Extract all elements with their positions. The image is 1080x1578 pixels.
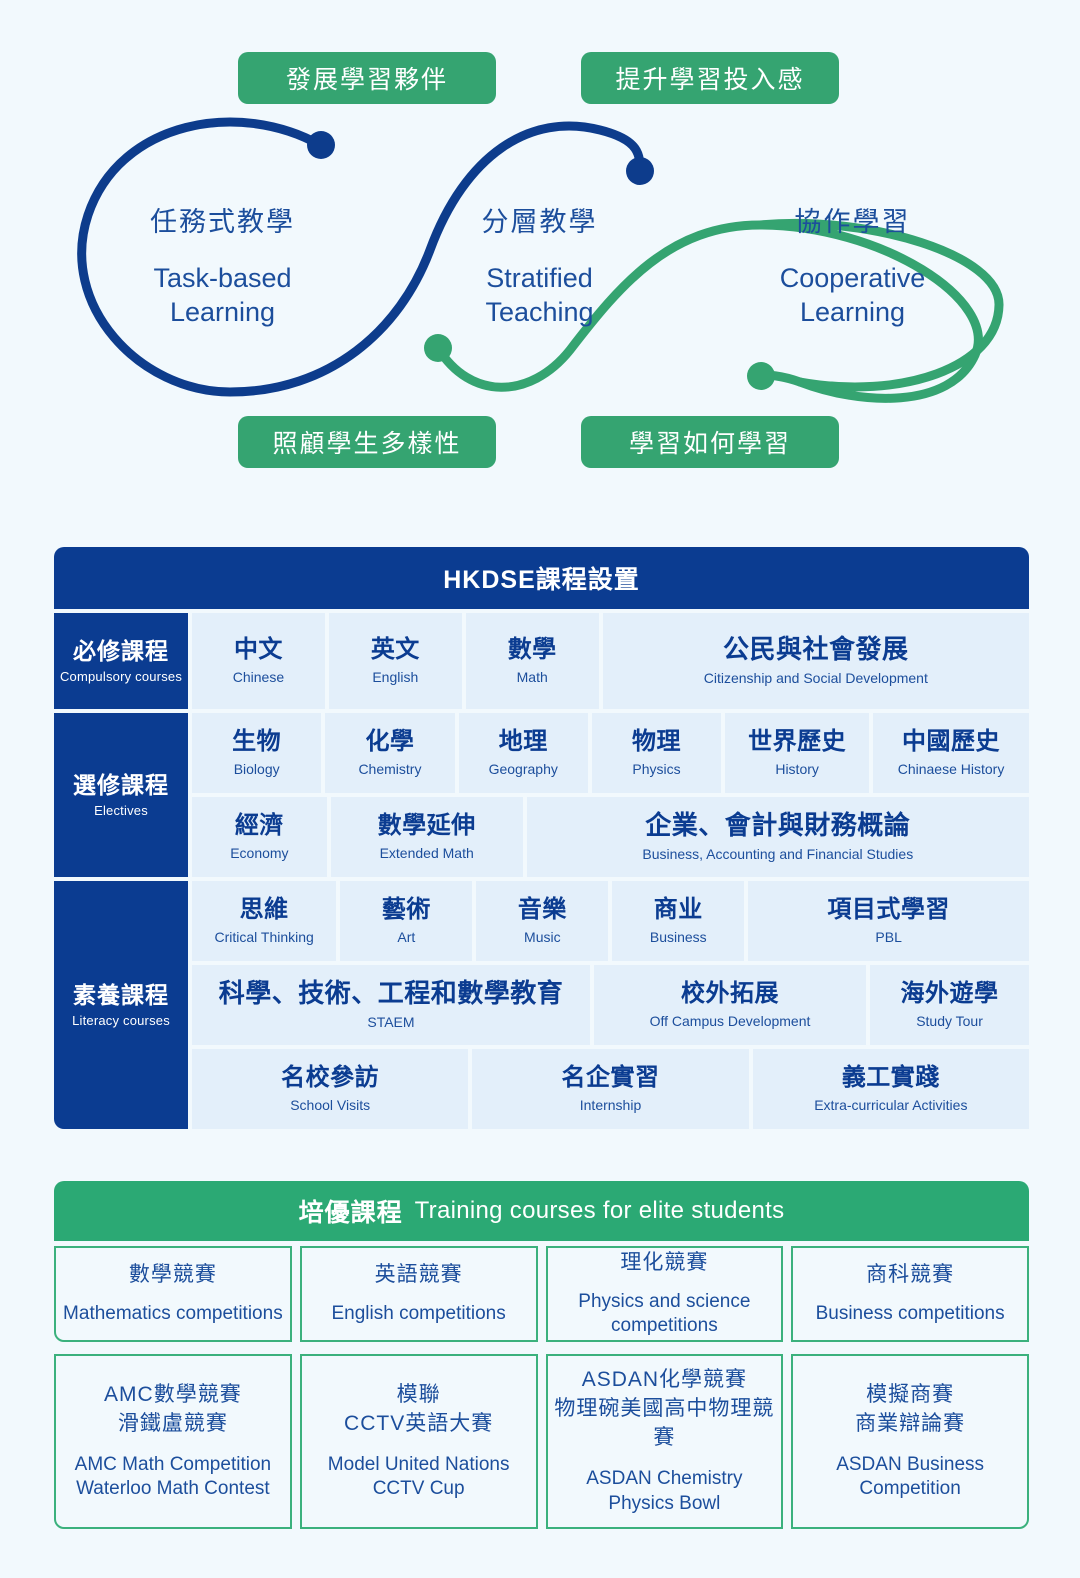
dse-subject-cell[interactable]: 商业Business — [612, 881, 744, 961]
subject-cn: 化學 — [365, 728, 414, 756]
pedagogy-infographic: 發展學習夥伴 提升學習投入感 照顧學生多樣性 學習如何學習 任務式教學 Task… — [0, 0, 1080, 510]
dse-subject-cell[interactable]: 科學、技術、工程和數學教育STAEM — [192, 965, 590, 1045]
subject-cn: 企業、會計與財務概論 — [645, 811, 910, 841]
dse-subject-cell[interactable]: 世界歷史History — [725, 713, 869, 793]
subject-en: Geography — [489, 761, 558, 778]
subject-cn: 名校參訪 — [281, 1064, 379, 1092]
subject-cn: 商业 — [654, 896, 703, 924]
dse-rows: 思維Critical Thinking藝術Art音樂Music商业Busines… — [192, 881, 1029, 1129]
dse-group-label: 必修課程Compulsory courses — [54, 613, 188, 709]
subject-en: Study Tour — [916, 1013, 983, 1030]
subject-en: STAEM — [367, 1014, 414, 1031]
subject-cn: 項目式學習 — [827, 896, 950, 924]
pill-learning-how-to-learn[interactable]: 學習如何學習 — [581, 416, 839, 468]
node-label-cn: 協作學習 — [725, 205, 980, 239]
subject-en: Chinese — [233, 669, 284, 686]
subject-cn: 世界歷史 — [748, 728, 846, 756]
dse-group-label-en: Electives — [94, 803, 148, 818]
dse-subject-cell[interactable]: 名企實習Internship — [472, 1049, 748, 1129]
elite-competition-row: AMC數學競賽滑鐵盧競賽AMC Math CompetitionWaterloo… — [54, 1354, 1029, 1529]
subject-en: Math — [517, 669, 548, 686]
elite-category-card[interactable]: 英語競賽English competitions — [300, 1246, 538, 1342]
dse-group-label-cn: 必修課程 — [73, 638, 169, 664]
dse-subject-cell[interactable]: 中國歷史Chinaese History — [873, 713, 1029, 793]
elite-category-card[interactable]: 數學競賽Mathematics competitions — [54, 1246, 292, 1342]
node-stratified-teaching: 分層教學 Stratified Teaching — [412, 205, 667, 329]
card-title-en: Physics and sciencecompetitions — [578, 1290, 750, 1339]
dse-rows: 生物Biology化學Chemistry地理Geography物理Physics… — [192, 713, 1029, 877]
dse-row: 名校參訪School Visits名企實習Internship義工實踐Extra… — [192, 1049, 1029, 1129]
subject-cn: 音樂 — [518, 896, 567, 924]
dse-group: 素養課程Literacy courses思維Critical Thinking藝… — [54, 881, 1029, 1129]
subject-en: Chinaese History — [898, 761, 1005, 778]
subject-cn: 中文 — [234, 636, 283, 664]
pill-cater-for-diversity[interactable]: 照顧學生多樣性 — [238, 416, 496, 468]
card-title-cn: 英語競賽 — [375, 1261, 463, 1290]
card-title-en: ASDAN ChemistryPhysics Bowl — [586, 1467, 742, 1516]
dse-subject-cell[interactable]: 音樂Music — [476, 881, 608, 961]
subject-cn: 義工實踐 — [842, 1064, 940, 1092]
dse-row: 思維Critical Thinking藝術Art音樂Music商业Busines… — [192, 881, 1029, 961]
subject-en: School Visits — [290, 1097, 370, 1114]
subject-en: Music — [524, 929, 561, 946]
node-label-en-line1: Task-based — [95, 261, 350, 295]
subject-en: Off Campus Development — [650, 1013, 811, 1030]
dse-group-label-cn: 素養課程 — [73, 982, 169, 1008]
blue-endpoint-dot-2 — [626, 157, 654, 185]
subject-en: Art — [397, 929, 415, 946]
subject-en: Business, Accounting and Financial Studi… — [642, 846, 913, 863]
subject-cn: 思維 — [240, 896, 289, 924]
node-label-en-line2: Learning — [725, 295, 980, 329]
elite-title-en: Training courses for elite students — [415, 1197, 785, 1225]
subject-cn: 科學、技術、工程和數學教育 — [219, 979, 564, 1009]
elite-competition-card[interactable]: 模擬商賽商業辯論賽ASDAN BusinessCompetition — [791, 1354, 1029, 1529]
subject-en: Physics — [632, 761, 680, 778]
card-title-en: AMC Math CompetitionWaterloo Math Contes… — [75, 1453, 271, 1502]
subject-cn: 地理 — [499, 728, 548, 756]
subject-en: Internship — [580, 1097, 641, 1114]
card-title-en: English competitions — [331, 1302, 505, 1327]
subject-en: Critical Thinking — [215, 929, 314, 946]
card-title-cn: 模擬商賽商業辯論賽 — [855, 1381, 965, 1439]
card-title-cn: 商科競賽 — [866, 1261, 954, 1290]
dse-subject-cell[interactable]: 數學延伸Extended Math — [331, 797, 523, 877]
node-label-en-line1: Cooperative — [725, 261, 980, 295]
subject-en: English — [372, 669, 418, 686]
subject-en: Extended Math — [380, 845, 474, 862]
subject-en: Chemistry — [358, 761, 421, 778]
subject-cn: 藝術 — [382, 896, 431, 924]
node-label-en-line1: Stratified — [412, 261, 667, 295]
card-title-en: ASDAN BusinessCompetition — [836, 1453, 984, 1502]
elite-title-bar: 培優課程 Training courses for elite students — [54, 1181, 1029, 1241]
subject-cn: 中國歷史 — [902, 728, 1000, 756]
dse-subject-cell[interactable]: 海外遊學Study Tour — [870, 965, 1029, 1045]
elite-competition-card[interactable]: AMC數學競賽滑鐵盧競賽AMC Math CompetitionWaterloo… — [54, 1354, 292, 1529]
elite-title-cn: 培優課程 — [299, 1193, 403, 1229]
dse-row: 生物Biology化學Chemistry地理Geography物理Physics… — [192, 713, 1029, 793]
card-title-en: Model United NationsCCTV Cup — [328, 1453, 510, 1502]
subject-cn: 名企實習 — [561, 1064, 659, 1092]
dse-subject-cell[interactable]: 企業、會計與財務概論Business, Accounting and Finan… — [527, 797, 1029, 877]
card-title-cn: 模聯CCTV英語大賽 — [344, 1381, 493, 1439]
subject-cn: 物理 — [632, 728, 681, 756]
card-title-cn: ASDAN化學競賽物理碗美國高中物理競賽 — [548, 1366, 782, 1453]
dse-group: 必修課程Compulsory courses中文Chinese英文English… — [54, 613, 1029, 709]
subject-cn: 生物 — [232, 728, 281, 756]
dse-subject-cell[interactable]: 中文Chinese — [192, 613, 325, 709]
dse-group: 選修課程Electives生物Biology化學Chemistry地理Geogr… — [54, 713, 1029, 877]
subject-cn: 經濟 — [235, 812, 284, 840]
dse-subject-cell[interactable]: 校外拓展Off Campus Development — [594, 965, 866, 1045]
subject-en: History — [775, 761, 819, 778]
dse-rows: 中文Chinese英文English數學Math公民與社會發展Citizensh… — [192, 613, 1029, 709]
subject-en: PBL — [875, 929, 901, 946]
card-title-en: Mathematics competitions — [63, 1302, 283, 1327]
card-title-cn: AMC數學競賽滑鐵盧競賽 — [104, 1381, 242, 1439]
dse-subject-cell[interactable]: 數學Math — [466, 613, 599, 709]
subject-cn: 數學延伸 — [378, 812, 476, 840]
dse-row: 中文Chinese英文English數學Math公民與社會發展Citizensh… — [192, 613, 1029, 709]
dse-row: 經濟Economy數學延伸Extended Math企業、會計與財務概論Busi… — [192, 797, 1029, 877]
dse-subject-cell[interactable]: 生物Biology — [192, 713, 321, 793]
elite-training-section: 培優課程 Training courses for elite students… — [54, 1181, 1029, 1529]
node-label-cn: 任務式教學 — [95, 205, 350, 239]
hkdse-table-body: 必修課程Compulsory courses中文Chinese英文English… — [54, 613, 1029, 1129]
dse-subject-cell[interactable]: 名校參訪School Visits — [192, 1049, 468, 1129]
elite-category-card[interactable]: 理化競賽Physics and sciencecompetitions — [546, 1246, 784, 1342]
node-label-en-line2: Learning — [95, 295, 350, 329]
node-label-en-line2: Teaching — [412, 295, 667, 329]
dse-subject-cell[interactable]: 公民與社會發展Citizenship and Social Developmen… — [603, 613, 1029, 709]
dse-group-label-en: Compulsory courses — [60, 669, 182, 684]
node-cooperative-learning: 協作學習 Cooperative Learning — [725, 205, 980, 329]
dse-subject-cell[interactable]: 經濟Economy — [192, 797, 327, 877]
elite-category-card[interactable]: 商科競賽Business competitions — [791, 1246, 1029, 1342]
dse-subject-cell[interactable]: 物理Physics — [592, 713, 721, 793]
node-label-cn: 分層教學 — [412, 205, 667, 239]
pill-develop-learning-partners[interactable]: 發展學習夥伴 — [238, 52, 496, 104]
green-endpoint-dot-1 — [424, 334, 452, 362]
node-task-based-learning: 任務式教學 Task-based Learning — [95, 205, 350, 329]
dse-group-label: 選修課程Electives — [54, 713, 188, 877]
card-title-cn: 理化競賽 — [620, 1249, 708, 1278]
dse-subject-cell[interactable]: 藝術Art — [340, 881, 472, 961]
dse-row: 科學、技術、工程和數學教育STAEM校外拓展Off Campus Develop… — [192, 965, 1029, 1045]
hkdse-title: HKDSE課程設置 — [54, 547, 1029, 609]
dse-group-label-en: Literacy courses — [72, 1013, 170, 1028]
dse-subject-cell[interactable]: 英文English — [329, 613, 462, 709]
elite-competition-card[interactable]: 模聯CCTV英語大賽Model United NationsCCTV Cup — [300, 1354, 538, 1529]
elite-competition-card[interactable]: ASDAN化學競賽物理碗美國高中物理競賽ASDAN ChemistryPhysi… — [546, 1354, 784, 1529]
card-title-cn: 數學競賽 — [129, 1261, 217, 1290]
elite-category-row: 數學競賽Mathematics competitions英語競賽English … — [54, 1246, 1029, 1342]
subject-cn: 校外拓展 — [681, 980, 779, 1008]
subject-en: Business — [650, 929, 707, 946]
blue-endpoint-dot-1 — [307, 131, 335, 159]
subject-cn: 公民與社會發展 — [723, 635, 909, 665]
dse-subject-cell[interactable]: 地理Geography — [459, 713, 588, 793]
dse-subject-cell[interactable]: 思維Critical Thinking — [192, 881, 336, 961]
subject-en: Biology — [234, 761, 280, 778]
pill-enhance-engagement[interactable]: 提升學習投入感 — [581, 52, 839, 104]
dse-subject-cell[interactable]: 化學Chemistry — [325, 713, 454, 793]
dse-subject-cell[interactable]: 項目式學習PBL — [748, 881, 1029, 961]
subject-en: Extra-curricular Activities — [814, 1097, 967, 1114]
dse-subject-cell[interactable]: 義工實踐Extra-curricular Activities — [753, 1049, 1029, 1129]
green-endpoint-dot-2 — [747, 362, 775, 390]
subject-cn: 數學 — [508, 636, 557, 664]
card-title-en: Business competitions — [816, 1302, 1005, 1327]
subject-en: Citizenship and Social Development — [704, 670, 928, 687]
subject-cn: 海外遊學 — [901, 980, 999, 1008]
subject-cn: 英文 — [371, 636, 420, 664]
dse-group-label-cn: 選修課程 — [73, 772, 169, 798]
hkdse-curriculum-table: HKDSE課程設置 必修課程Compulsory courses中文Chines… — [54, 547, 1029, 1129]
dse-group-label: 素養課程Literacy courses — [54, 881, 188, 1129]
subject-en: Economy — [230, 845, 288, 862]
